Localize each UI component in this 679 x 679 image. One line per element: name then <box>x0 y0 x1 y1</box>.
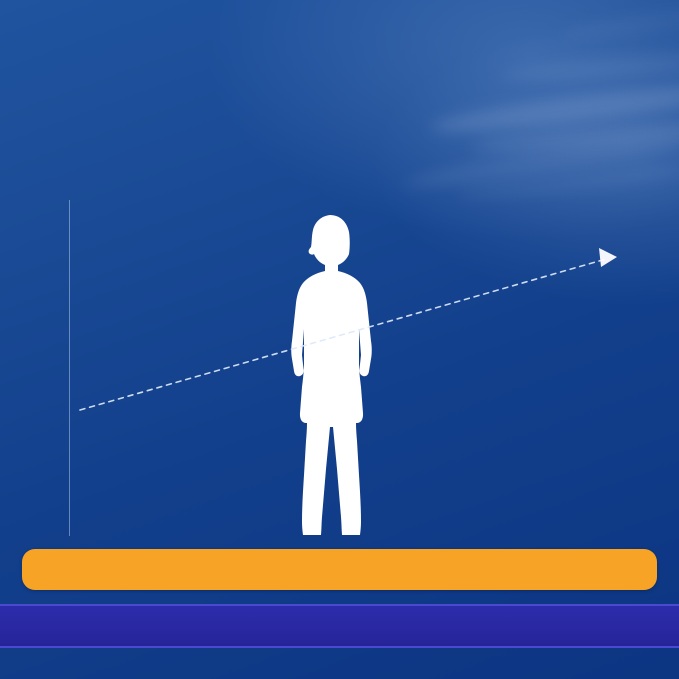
infographic-canvas <box>0 0 679 679</box>
y-axis-line <box>69 200 70 536</box>
capacity-band <box>0 604 679 648</box>
use-case-band <box>22 549 657 590</box>
person-silhouette-icon <box>283 213 387 538</box>
